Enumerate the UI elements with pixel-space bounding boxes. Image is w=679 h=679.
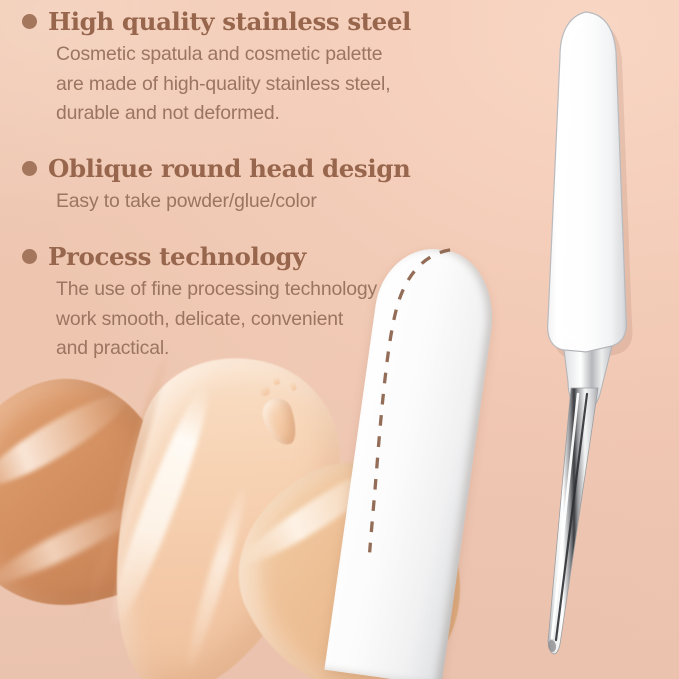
feature-item-process-technology: Process technology The use of fine proce… — [22, 243, 377, 364]
feature-heading: High quality stainless steel — [48, 8, 411, 35]
cosmetic-spatula-tapered — [508, 0, 679, 679]
bullet-dot-icon — [22, 249, 37, 264]
cream-droplet — [273, 378, 280, 385]
swatch-gloss-highlight — [0, 382, 136, 498]
feature-item-stainless-steel: High quality stainless steel Cosmetic sp… — [22, 8, 411, 129]
cream-droplet — [260, 386, 270, 396]
bullet-dot-icon — [22, 161, 37, 176]
feature-heading: Oblique round head design — [48, 155, 410, 182]
feature-heading-row: High quality stainless steel — [22, 8, 411, 35]
bullet-dot-icon — [22, 14, 37, 29]
feature-body: Cosmetic spatula and cosmetic palette ar… — [56, 40, 411, 129]
feature-body: The use of fine processing technology wo… — [56, 275, 377, 364]
feature-heading-row: Oblique round head design — [22, 155, 410, 182]
feature-heading: Process technology — [48, 243, 306, 270]
product-feature-image: High quality stainless steel Cosmetic sp… — [0, 0, 679, 679]
feature-item-oblique-round-head: Oblique round head design Easy to take p… — [22, 155, 410, 217]
feature-heading-row: Process technology — [22, 243, 377, 270]
foundation-swatch-group — [0, 360, 380, 679]
feature-body: Easy to take powder/glue/color — [56, 187, 410, 217]
